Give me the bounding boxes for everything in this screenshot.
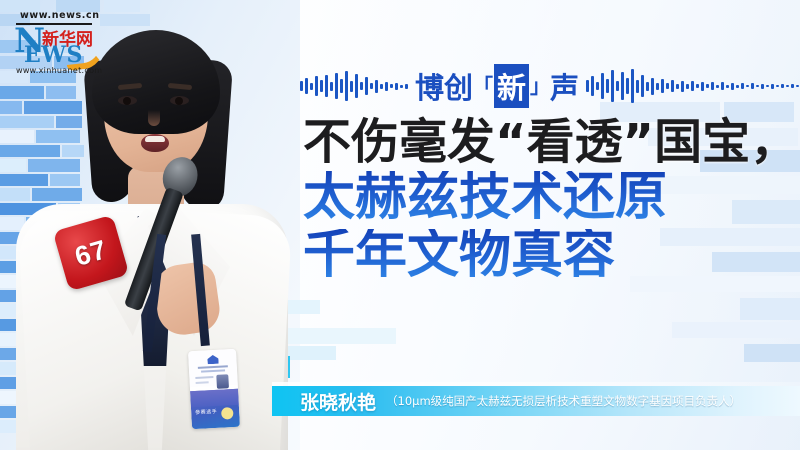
xinhua-watermark-logo: www.news.cn N 新华网 EWS www.xinhuanet.com bbox=[6, 10, 98, 78]
program-title: 博创 「 新 」 声 bbox=[415, 64, 579, 108]
waveform-bar bbox=[611, 70, 614, 102]
waveform-bar bbox=[310, 83, 313, 90]
waveform-bar bbox=[631, 69, 634, 103]
waveform-bar bbox=[756, 85, 759, 87]
waveform-bar bbox=[746, 85, 749, 87]
contestant-number: 67 bbox=[71, 234, 110, 273]
waveform-bar bbox=[771, 84, 774, 89]
waveform-bar bbox=[776, 85, 779, 87]
mosaic-tile bbox=[672, 322, 800, 338]
waveform-bar bbox=[601, 73, 604, 99]
waveform-bar bbox=[651, 78, 654, 95]
caption-bar: 张晓秋艳 （10μm级纯国产太赫兹无损层析技术重塑文物数字基因项目负责人） bbox=[272, 386, 800, 416]
waveform-bar bbox=[626, 78, 629, 94]
headline-line-1: 不伤毫发“看透”国宝， bbox=[303, 118, 800, 167]
waveform-bar bbox=[345, 71, 348, 101]
mosaic-tile bbox=[740, 298, 800, 320]
waveform-bar bbox=[786, 85, 789, 87]
waveform-bar bbox=[676, 84, 679, 89]
waveform-bar bbox=[781, 84, 784, 88]
logo-top-url: www.news.cn bbox=[20, 10, 100, 21]
waveform-bar bbox=[586, 80, 589, 92]
waveform-bar bbox=[596, 82, 599, 90]
headline-line-2: 太赫兹技术还原 bbox=[303, 171, 800, 225]
waveform-bar bbox=[300, 81, 303, 91]
waveform-bar bbox=[656, 83, 659, 90]
waveform-bar bbox=[666, 83, 669, 89]
waveform-bar bbox=[751, 83, 754, 89]
waveform-bar bbox=[766, 85, 769, 87]
waveform-bar bbox=[320, 80, 323, 92]
eye-left bbox=[118, 96, 137, 105]
waveform-bar bbox=[741, 83, 744, 89]
video-thumbnail: 67 参赛选手 www.news.cn N 新华网 EWS www.xinhua… bbox=[0, 0, 800, 450]
waveform-bar bbox=[621, 72, 624, 100]
waveform-bar bbox=[395, 83, 398, 90]
program-brand-row: 博创 「 新 」 声 bbox=[300, 62, 800, 110]
conference-badge: 参赛选手 bbox=[188, 349, 240, 429]
waveform-bar bbox=[661, 79, 664, 93]
waveform-bar bbox=[691, 81, 694, 91]
quote-open: 「 bbox=[473, 76, 493, 96]
program-title-part1: 博创 bbox=[415, 65, 473, 107]
waveform-bar bbox=[390, 84, 393, 88]
waveform-bar bbox=[681, 81, 684, 92]
mosaic-tile bbox=[286, 328, 396, 344]
waveform-bar bbox=[591, 76, 594, 96]
waveform-bar bbox=[360, 82, 363, 90]
waveform-bar bbox=[726, 85, 729, 88]
waveform-bar bbox=[330, 82, 333, 91]
waveform-bar bbox=[731, 83, 734, 90]
waveform-bar bbox=[696, 84, 699, 88]
waveform-bar bbox=[375, 80, 378, 93]
waveform-bar bbox=[796, 85, 799, 87]
conference-badge-portrait bbox=[216, 374, 229, 389]
waveform-bar bbox=[380, 84, 383, 89]
waveform-bar bbox=[711, 82, 714, 90]
waveform-bar bbox=[355, 74, 358, 98]
speaker-name: 张晓秋艳 bbox=[300, 388, 376, 415]
waveform-bar bbox=[716, 85, 719, 88]
waveform-bar bbox=[616, 81, 619, 91]
nose bbox=[148, 110, 160, 126]
program-title-part2: 声 bbox=[550, 65, 579, 107]
waveform-bar bbox=[761, 84, 764, 89]
quote-close: 」 bbox=[530, 76, 550, 96]
waveform-bar bbox=[365, 77, 368, 95]
waveform-bar bbox=[721, 82, 724, 90]
waveform-bar bbox=[385, 82, 388, 91]
program-title-highlight: 新 bbox=[494, 64, 529, 108]
waveform-bar bbox=[641, 75, 644, 97]
waveform-bar bbox=[405, 84, 408, 89]
waveform-right-icon bbox=[586, 66, 800, 106]
conference-badge-label: 参赛选手 bbox=[195, 408, 217, 416]
waveform-bar bbox=[706, 84, 709, 88]
waveform-bar bbox=[350, 81, 353, 92]
waveform-bar bbox=[671, 80, 674, 92]
waveform-left-icon bbox=[300, 66, 408, 106]
waveform-bar bbox=[400, 85, 403, 88]
waveform-bar bbox=[791, 84, 794, 88]
waveform-bar bbox=[305, 78, 308, 94]
mosaic-tile bbox=[744, 344, 800, 362]
eye-right bbox=[170, 96, 189, 105]
waveform-bar bbox=[646, 82, 649, 91]
waveform-bar bbox=[340, 79, 343, 93]
waveform-bar bbox=[370, 83, 373, 89]
conference-badge-sky bbox=[190, 389, 239, 407]
waveform-bar bbox=[636, 80, 639, 93]
speaker-photo: 67 参赛选手 bbox=[0, 18, 300, 450]
waveform-bar bbox=[701, 82, 704, 91]
waveform-bar bbox=[315, 76, 318, 96]
mouth bbox=[141, 134, 169, 152]
waveform-bar bbox=[736, 85, 739, 88]
headline-line-3: 千年文物真容 bbox=[303, 229, 800, 283]
waveform-bar bbox=[686, 84, 689, 89]
waveform-bar bbox=[606, 79, 609, 93]
speaker-role: （10μm级纯国产太赫兹无损层析技术重塑文物数字基因项目负责人） bbox=[386, 393, 741, 409]
logo-bottom-url: www.xinhuanet.com bbox=[16, 66, 102, 75]
waveform-bar bbox=[335, 73, 338, 99]
headline: 不伤毫发“看透”国宝， 太赫兹技术还原 千年文物真容 bbox=[303, 118, 800, 283]
waveform-bar bbox=[325, 75, 328, 97]
